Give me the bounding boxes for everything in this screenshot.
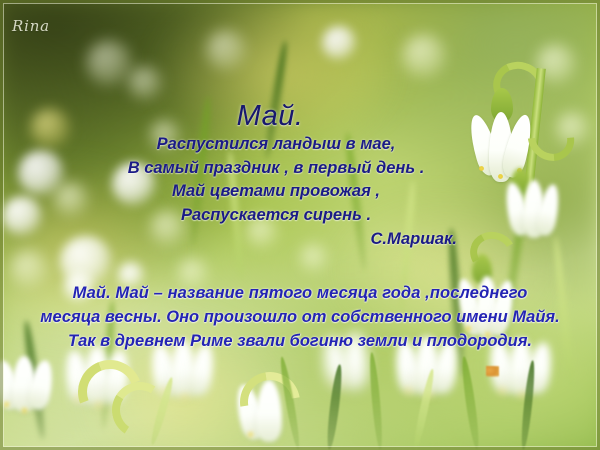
- poem-line: Май цветами провожая ,: [0, 180, 552, 204]
- description-line: Так в древнем Риме звали богиню земли и …: [8, 329, 592, 353]
- poem-line: В самый праздник , в первый день .: [0, 157, 552, 181]
- poem-line: Распустился ландыш в мае,: [0, 133, 552, 157]
- watermark: Rina: [12, 17, 50, 35]
- poem-line: Распускается сирень .: [0, 204, 552, 228]
- text-overlay: Май. Распустился ландыш в мае, В самый п…: [0, 0, 600, 450]
- description-line: Май. Май – название пятого месяца года ,…: [8, 281, 592, 305]
- page-title: Май.: [0, 100, 600, 133]
- description-line: месяца весны. Оно произошло от собственн…: [8, 305, 592, 329]
- spring-poem-card: Май. Распустился ландыш в мае, В самый п…: [0, 0, 600, 450]
- poem-block: Распустился ландыш в мае, В самый праздн…: [0, 133, 600, 252]
- poem-author: С.Маршак.: [0, 228, 552, 252]
- description-block: Май. Май – название пятого месяца года ,…: [8, 281, 592, 353]
